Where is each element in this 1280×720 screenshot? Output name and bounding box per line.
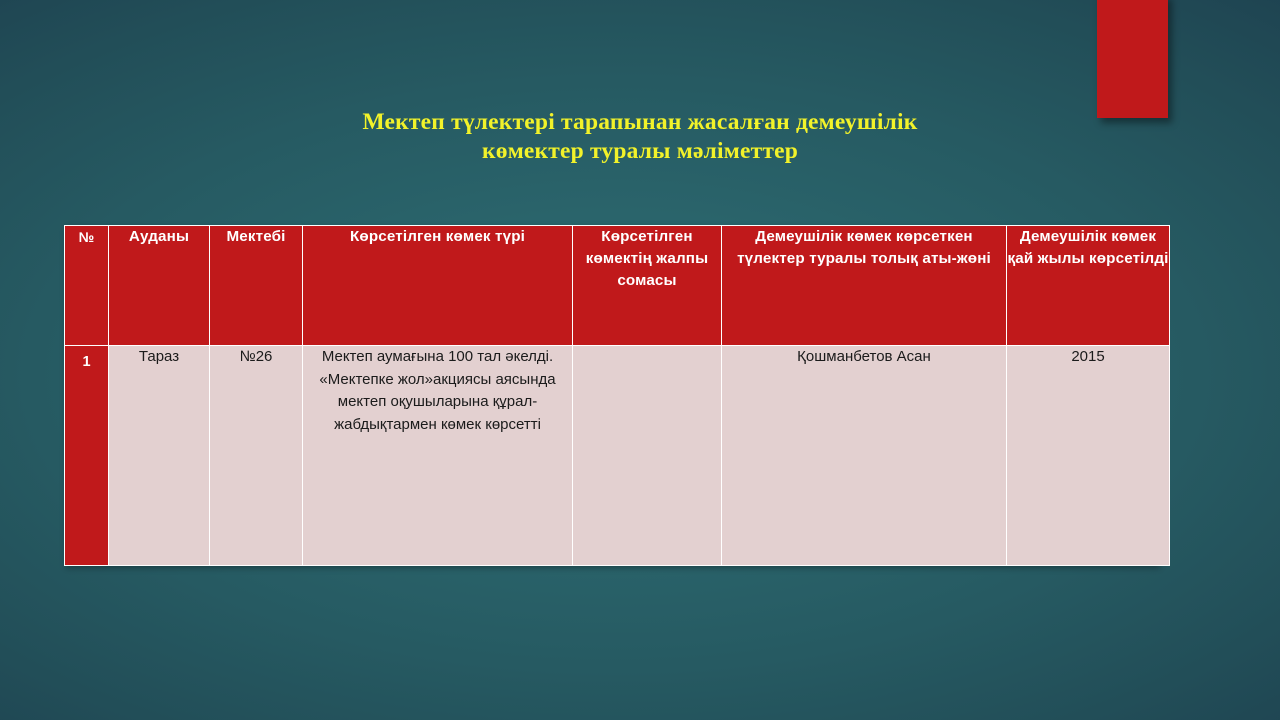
title-line-2: көмектер туралы мәліметтер <box>240 137 1040 166</box>
cell-number: 1 <box>65 346 109 566</box>
cell-district: Тараз <box>109 346 210 566</box>
table-row: 1 Тараз №26 Мектеп аумағына 100 тал әкел… <box>65 346 1170 566</box>
decorative-red-rectangle <box>1097 0 1168 118</box>
page-title: Мектеп түлектері тарапынан жасалған деме… <box>240 108 1040 166</box>
table-body: 1 Тараз №26 Мектеп аумағына 100 тал әкел… <box>65 346 1170 566</box>
title-line-1: Мектеп түлектері тарапынан жасалған деме… <box>240 108 1040 137</box>
cell-help-type-text: Мектеп аумағына 100 тал әкелді. «Мектепк… <box>303 346 572 436</box>
cell-sponsor-name: Қошманбетов Асан <box>722 346 1007 566</box>
cell-help-type: Мектеп аумағына 100 тал әкелді. «Мектепк… <box>303 346 573 566</box>
col-header-total-sum: Көрсетілген көмектің жалпы сомасы <box>573 226 722 346</box>
cell-total-sum <box>573 346 722 566</box>
sponsorship-table: № Ауданы Мектебі Көрсетілген көмек түрі … <box>64 225 1158 565</box>
col-header-district: Ауданы <box>109 226 210 346</box>
col-header-year: Демеушілік көмек қай жылы көрсетілді <box>1007 226 1170 346</box>
col-header-school: Мектебі <box>210 226 303 346</box>
table-header: № Ауданы Мектебі Көрсетілген көмек түрі … <box>65 226 1170 346</box>
col-header-number: № <box>65 226 109 346</box>
table-header-row: № Ауданы Мектебі Көрсетілген көмек түрі … <box>65 226 1170 346</box>
slide-canvas: Мектеп түлектері тарапынан жасалған деме… <box>0 0 1280 720</box>
cell-school: №26 <box>210 346 303 566</box>
data-table: № Ауданы Мектебі Көрсетілген көмек түрі … <box>64 225 1170 566</box>
col-header-sponsor-name: Демеушілік көмек көрсеткен түлектер тура… <box>722 226 1007 346</box>
col-header-help-type: Көрсетілген көмек түрі <box>303 226 573 346</box>
cell-year: 2015 <box>1007 346 1170 566</box>
